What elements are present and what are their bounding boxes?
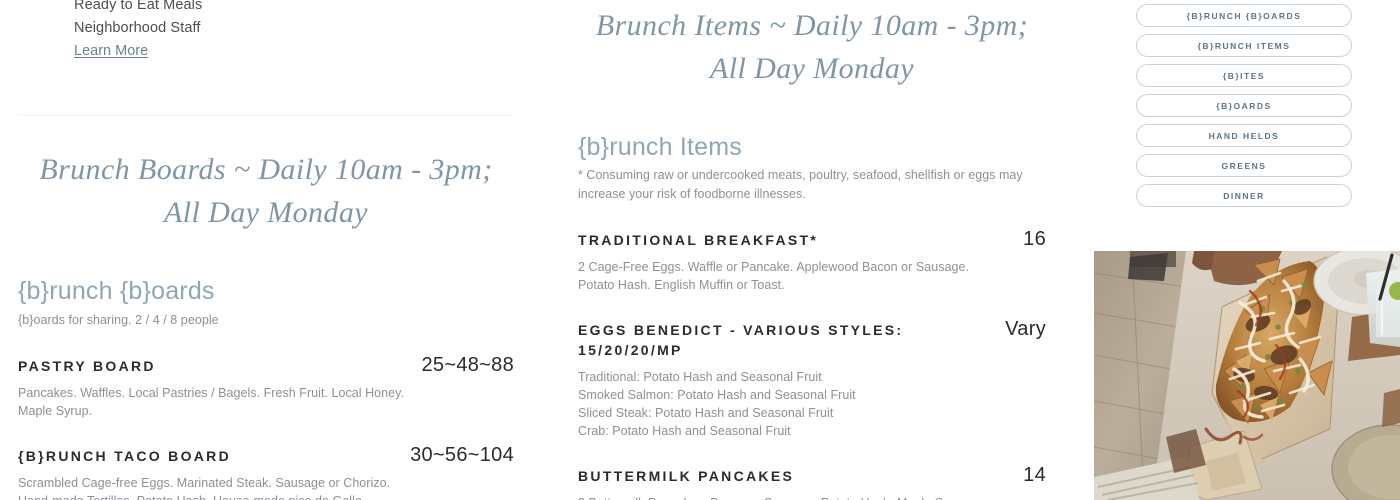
sidebar-button-label: HAND HELDS (1209, 131, 1280, 141)
category-sidebar: {B}RUNCH {B}OARDS {B}RUNCH ITEMS {B}ITES… (1136, 4, 1352, 207)
menu-item-row: PASTRY BOARD 25~48~88 (18, 356, 514, 376)
sidebar-button-greens[interactable]: GREENS (1136, 154, 1352, 177)
sidebar-button-bites[interactable]: {B}ITES (1136, 64, 1352, 87)
menu-item-row: EGGS BENEDICT - VARIOUS STYLES: 15/20/20… (578, 320, 1046, 360)
menu-item-row: BUTTERMILK PANCAKES 14 (578, 466, 1046, 486)
menu-item-name: EGGS BENEDICT - VARIOUS STYLES: 15/20/20… (578, 320, 918, 360)
menu-page: Ready to Eat Meals Neighborhood Staff Le… (0, 0, 1400, 500)
menu-item-description-line: Scrambled Cage-free Eggs. Marinated Stea… (18, 474, 418, 492)
menu-item-name: {B}RUNCH TACO BOARD (18, 446, 392, 466)
menu-item-eggs-benedict[interactable]: EGGS BENEDICT - VARIOUS STYLES: 15/20/20… (578, 320, 1046, 440)
menu-item-description: Scrambled Cage-free Eggs. Marinated Stea… (18, 474, 418, 500)
menu-item-description: 2 Buttermilk Pancakes. Bacon or Sausage.… (578, 494, 978, 500)
menu-item-price: 16 (1023, 228, 1046, 250)
menu-item-buttermilk-pancakes[interactable]: BUTTERMILK PANCAKES 14 2 Buttermilk Panc… (578, 466, 1046, 500)
menu-item-price: 14 (1023, 464, 1046, 486)
brunch-boards-subheading: {b}oards for sharing. 2 / 4 / 8 people (18, 310, 514, 330)
menu-item-brunch-taco-board[interactable]: {B}RUNCH TACO BOARD 30~56~104 Scrambled … (18, 446, 514, 500)
menu-item-description: Pancakes. Waffles. Local Pastries / Bage… (18, 384, 418, 420)
sidebar-button-hand-helds[interactable]: HAND HELDS (1136, 124, 1352, 147)
menu-item-name: BUTTERMILK PANCAKES (578, 466, 1005, 486)
menu-item-description-line: Hand-made Tortillas. Potato Hash. House-… (18, 492, 418, 500)
sidebar-button-label: {B}RUNCH ITEMS (1198, 41, 1291, 51)
menu-item-price: 25~48~88 (422, 354, 515, 376)
sidebar-button-brunch-items[interactable]: {B}RUNCH ITEMS (1136, 34, 1352, 57)
menu-item-description: Traditional: Potato Hash and Seasonal Fr… (578, 368, 978, 440)
allergen-disclaimer: * Consuming raw or undercooked meats, po… (578, 166, 1046, 204)
section-brunch-boards: Brunch Boards ~ Daily 10am - 3pm; All Da… (18, 0, 514, 500)
menu-item-traditional-breakfast[interactable]: TRADITIONAL BREAKFAST* 16 2 Cage-Free Eg… (578, 230, 1046, 294)
brunch-boards-heading: {b}runch {b}oards (18, 276, 514, 306)
sidebar-button-label: {B}ITES (1223, 71, 1265, 81)
menu-item-description-line: Maple Syrup. (18, 402, 418, 420)
menu-item-description: 2 Cage-Free Eggs. Waffle or Pancake. App… (578, 258, 978, 294)
menu-item-description-line: 2 Cage-Free Eggs. Waffle or Pancake. App… (578, 258, 978, 276)
menu-item-row: TRADITIONAL BREAKFAST* 16 (578, 230, 1046, 250)
sidebar-button-label: GREENS (1222, 161, 1267, 171)
menu-item-description-line: Crab: Potato Hash and Seasonal Fruit (578, 422, 978, 440)
menu-item-description-line: Sliced Steak: Potato Hash and Seasonal F… (578, 404, 978, 422)
sidebar-button-brunch-boards[interactable]: {B}RUNCH {B}OARDS (1136, 4, 1352, 27)
food-photo (1094, 251, 1400, 500)
brunch-items-heading: {b}runch Items (578, 132, 1046, 162)
menu-item-row: {B}RUNCH TACO BOARD 30~56~104 (18, 446, 514, 466)
sidebar-button-dinner[interactable]: DINNER (1136, 184, 1352, 207)
menu-item-description-line: 2 Buttermilk Pancakes. Bacon or Sausage.… (578, 494, 978, 500)
menu-item-description-line: Traditional: Potato Hash and Seasonal Fr… (578, 368, 978, 386)
menu-item-description-line: Pancakes. Waffles. Local Pastries / Bage… (18, 384, 418, 402)
menu-item-pastry-board[interactable]: PASTRY BOARD 25~48~88 Pancakes. Waffles.… (18, 356, 514, 420)
menu-item-name: TRADITIONAL BREAKFAST* (578, 230, 1005, 250)
menu-item-price: Vary (1005, 318, 1046, 340)
menu-item-description-line: Potato Hash. English Muffin or Toast. (578, 276, 978, 294)
brunch-items-script-title: Brunch Items ~ Daily 10am - 3pm; All Day… (578, 0, 1046, 90)
brunch-boards-script-title: Brunch Boards ~ Daily 10am - 3pm; All Da… (18, 0, 514, 234)
menu-item-description-line: Smoked Salmon: Potato Hash and Seasonal … (578, 386, 978, 404)
sidebar-button-label: {B}OARDS (1216, 101, 1271, 111)
sidebar-button-boards[interactable]: {B}OARDS (1136, 94, 1352, 117)
sidebar-button-label: DINNER (1223, 191, 1265, 201)
menu-item-name: PASTRY BOARD (18, 356, 404, 376)
section-brunch-items: Brunch Items ~ Daily 10am - 3pm; All Day… (578, 0, 1046, 500)
menu-item-price: 30~56~104 (410, 444, 514, 466)
sidebar-button-label: {B}RUNCH {B}OARDS (1187, 11, 1302, 21)
